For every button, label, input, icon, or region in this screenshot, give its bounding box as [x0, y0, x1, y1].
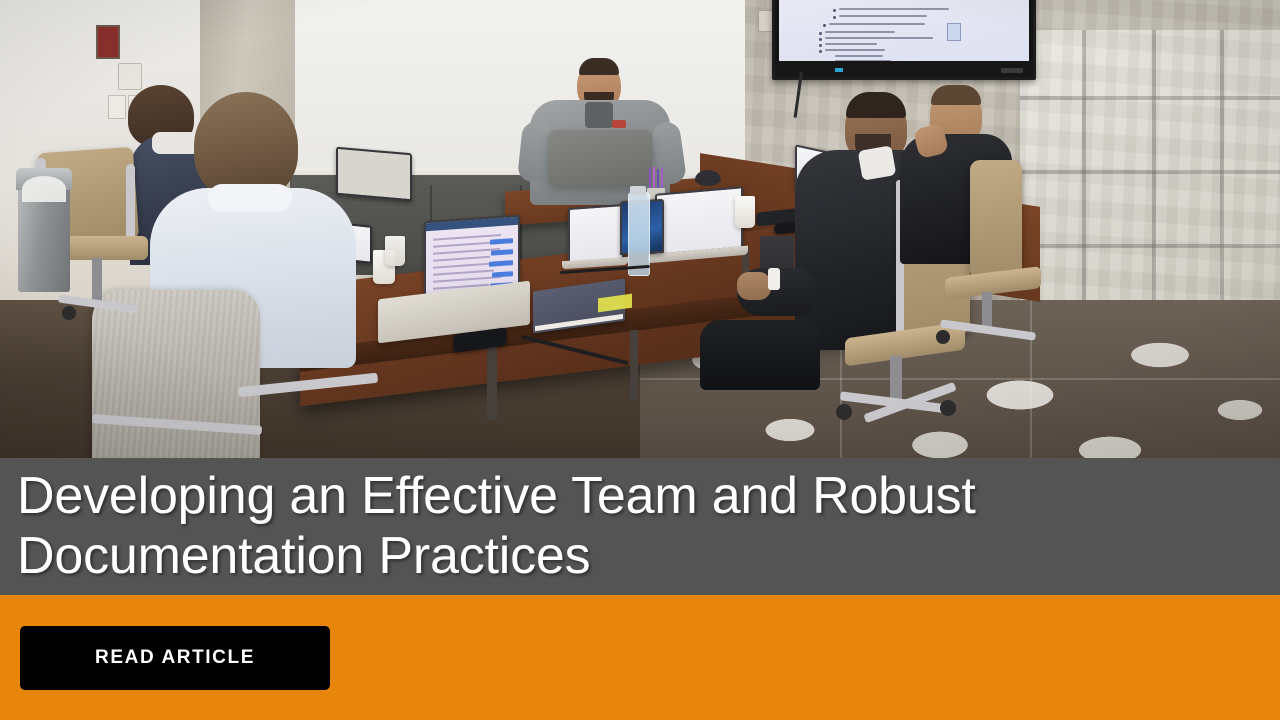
presentation-slide: [779, 0, 1029, 61]
presenter-chair: [548, 130, 652, 186]
water-bottle: [628, 192, 650, 276]
attendee-black-suit-hands: [737, 272, 771, 300]
title-band: Developing an Effective Team and Robust …: [0, 458, 1280, 595]
title-line-2: Documentation Practices: [17, 526, 1257, 586]
article-promo-banner: Developing an Effective Team and Robust …: [0, 0, 1280, 720]
meeting-photo: [0, 0, 1280, 460]
attendee-black-suit-legs: [700, 320, 820, 390]
attendee-black-suit-collar: [858, 145, 897, 180]
chair-black-shirt-wheel: [936, 330, 950, 344]
table-leg-right: [630, 330, 638, 400]
chair-black-shirt: [970, 160, 1022, 280]
empty-chair-wheel: [62, 306, 76, 320]
light-switch-left: [108, 95, 126, 119]
wall-thermostat: [118, 63, 142, 90]
computer-mouse: [695, 170, 721, 186]
coffee-cup-right: [735, 196, 755, 228]
chair-black-suit-wheel-b: [940, 400, 956, 416]
screen-power-led: [835, 68, 843, 72]
attendee-black-shirt-hair: [931, 85, 981, 105]
title-line-1: Developing an Effective Team and Robust: [17, 466, 1257, 526]
fire-alarm-panel: [96, 25, 120, 59]
read-article-label: READ ARTICLE: [95, 647, 255, 669]
attendee-black-suit-cuff: [768, 268, 780, 290]
presenter-logo-patch: [612, 120, 626, 128]
chair-black-suit-wheel-a: [836, 404, 852, 420]
page-title: Developing an Effective Team and Robust …: [17, 466, 1257, 586]
coffee-cup-left-2: [385, 236, 405, 266]
read-article-button[interactable]: READ ARTICLE: [20, 626, 330, 690]
attendee-navy-collar: [152, 132, 200, 154]
presenter-hair: [579, 58, 619, 75]
attendee-blue-collar: [208, 184, 292, 212]
draped-jacket-texture: [92, 290, 260, 460]
screen-brand-mark: [1001, 68, 1023, 73]
presentation-screen: [772, 0, 1036, 80]
footer-bar: READ ARTICLE FORTRESS ASSURANCE BY ABS 1…: [0, 595, 1280, 720]
trash-bag-liner: [22, 176, 66, 202]
water-bottle-cap: [630, 186, 646, 195]
presenter-collar: [585, 102, 613, 128]
attendee-black-suit-hair: [846, 92, 906, 118]
